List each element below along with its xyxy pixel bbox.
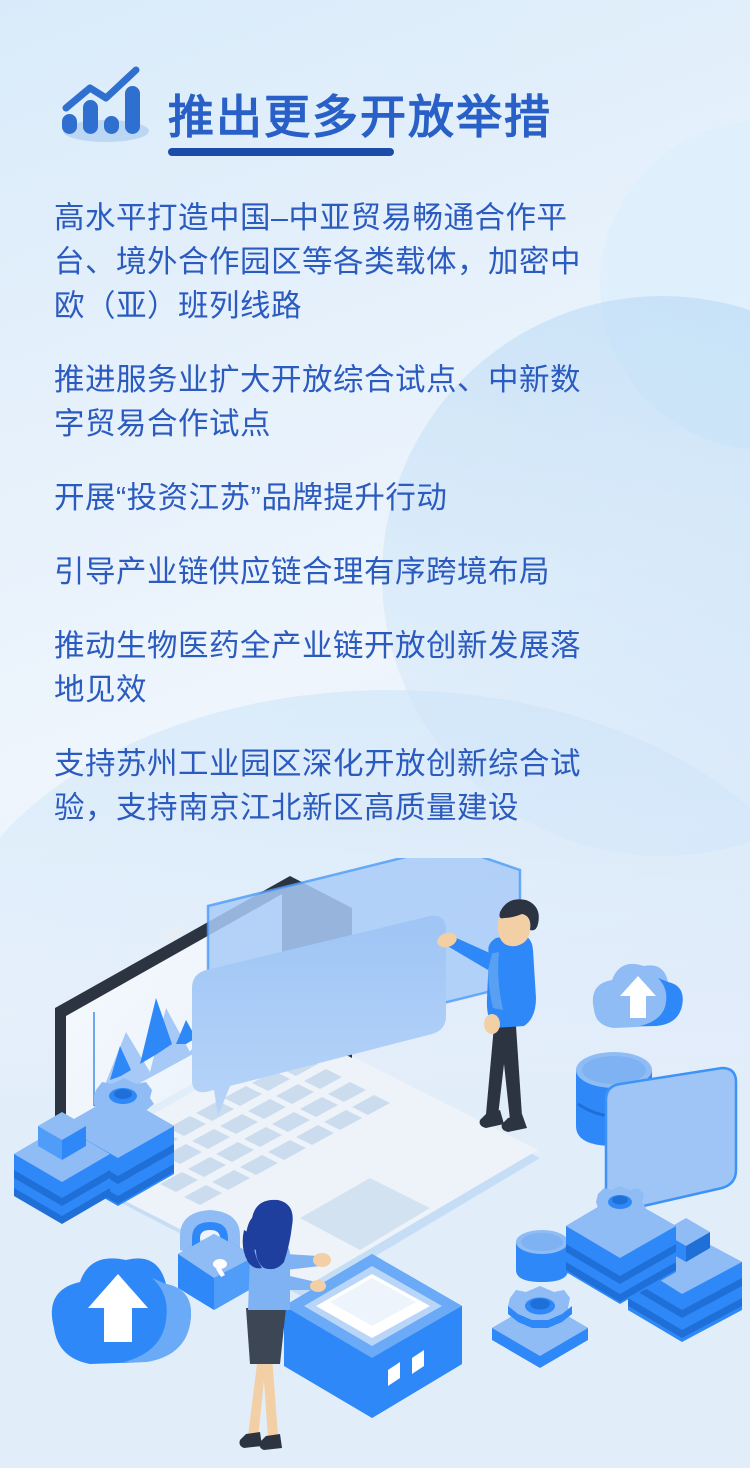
- page-title: 推出更多开放举措: [168, 94, 552, 144]
- gear-pedestal: [492, 1286, 588, 1368]
- background-circle-top-right: [600, 120, 750, 450]
- cloud-upload-left: [52, 1258, 191, 1364]
- measure-item-5: 推动生物医药全产业链开放创新发展落地见效: [54, 624, 584, 712]
- measures-list: 高水平打造中国–中亚贸易畅通合作平台、境外合作园区等各类载体，加密中欧（亚）班列…: [54, 196, 584, 830]
- poster-header: 推出更多开放举措: [56, 62, 552, 144]
- bar-chart-growth-icon: [56, 62, 152, 144]
- title-underline: [168, 148, 394, 156]
- measure-item-3: 开展“投资江苏”品牌提升行动: [54, 476, 584, 520]
- cloud-upload-right: [593, 964, 683, 1028]
- measure-item-1: 高水平打造中国–中亚贸易畅通合作平台、境外合作园区等各类载体，加密中欧（亚）班列…: [54, 196, 584, 328]
- database-cylinder-small: [516, 1230, 568, 1282]
- server-stack-right: [566, 1186, 742, 1342]
- poster-root: 推出更多开放举措 高水平打造中国–中亚贸易畅通合作平台、境外合作园区等各类载体，…: [0, 0, 750, 1468]
- measure-item-2: 推进服务业扩大开放综合试点、中新数字贸易合作试点: [54, 358, 584, 446]
- measure-item-4: 引导产业链供应链合理有序跨境布局: [54, 550, 584, 594]
- isometric-illustration: [0, 858, 750, 1468]
- measure-item-6: 支持苏州工业园区深化开放创新综合试验，支持南京江北新区高质量建设: [54, 742, 584, 830]
